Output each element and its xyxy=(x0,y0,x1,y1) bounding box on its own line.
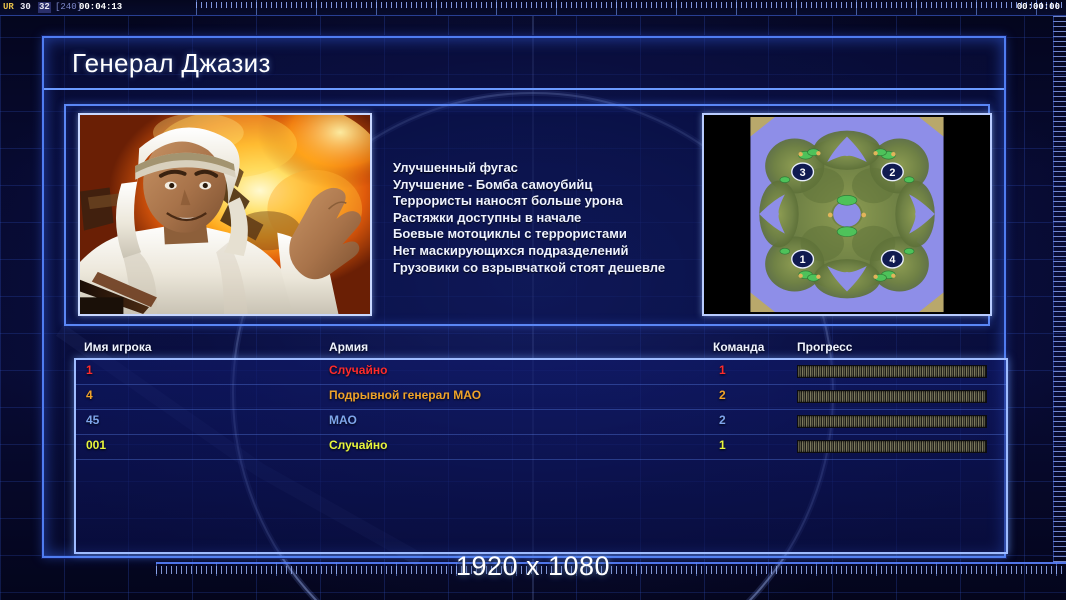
svg-text:3: 3 xyxy=(800,167,806,179)
ability-line: Террористы наносят больше урона xyxy=(393,193,693,210)
general-abilities-list: Улучшенный фугас Улучшение - Бомба самоу… xyxy=(393,160,693,276)
player-team: 2 xyxy=(719,388,726,402)
right-ruler-bar xyxy=(1053,16,1066,562)
general-portrait xyxy=(78,113,372,316)
ability-line: Улучшение - Бомба самоубийц xyxy=(393,177,693,194)
hud-value-b: 32 xyxy=(38,2,51,13)
table-row[interactable]: 45 МАО 2 xyxy=(76,410,1006,435)
player-table-header: Имя игрока Армия Команда Прогресс xyxy=(76,340,1006,358)
table-row[interactable]: 4 Подрывной генерал МАО 2 xyxy=(76,385,1006,410)
map-preview[interactable]: 3 2 1 4 xyxy=(702,113,992,316)
page-title: Генерал Джазиз xyxy=(72,48,271,79)
player-progress-bar xyxy=(797,365,987,378)
ability-line: Улучшенный фугас xyxy=(393,160,693,177)
player-name: 4 xyxy=(86,388,93,402)
resolution-overlay-text: 1920 x 1080 xyxy=(0,551,1066,582)
top-ruler-bar: UR 30 32 [240] 00:04:13 00:00:00 xyxy=(0,0,1066,16)
player-name: 45 xyxy=(86,413,99,427)
column-header-army: Армия xyxy=(329,340,368,354)
player-army: Подрывной генерал МАО xyxy=(329,388,481,402)
player-progress-bar xyxy=(797,390,987,403)
table-row[interactable]: 1 Случайно 1 xyxy=(76,360,1006,385)
hud-timer-right: 00:00:00 xyxy=(1017,2,1060,13)
svg-text:4: 4 xyxy=(889,254,895,266)
hud-value-c: [240] xyxy=(55,2,82,13)
svg-text:1: 1 xyxy=(800,254,806,266)
ability-line: Боевые мотоциклы с террористами xyxy=(393,226,693,243)
player-army: Случайно xyxy=(329,438,387,452)
player-team: 1 xyxy=(719,363,726,377)
table-row[interactable]: 001 Случайно 1 xyxy=(76,435,1006,460)
player-army: МАО xyxy=(329,413,357,427)
ability-line: Грузовики со взрывчаткой стоят дешевле xyxy=(393,260,693,277)
player-table: 1 Случайно 1 4 Подрывной генерал МАО 2 4… xyxy=(74,358,1008,554)
column-header-progress: Прогресс xyxy=(797,340,852,354)
player-army: Случайно xyxy=(329,363,387,377)
svg-text:2: 2 xyxy=(889,167,895,179)
window-title-bar: Генерал Джазиз xyxy=(44,38,1004,90)
player-team: 1 xyxy=(719,438,726,452)
top-ruler-minor-ticks xyxy=(196,0,1066,16)
column-header-team: Команда xyxy=(713,340,764,354)
hud-ur-label: UR xyxy=(3,2,14,13)
player-name: 1 xyxy=(86,363,93,377)
player-name: 001 xyxy=(86,438,106,452)
hud-timer-left: 00:04:13 xyxy=(79,2,122,13)
player-progress-bar xyxy=(797,440,987,453)
hud-value-a: 30 xyxy=(20,2,31,13)
ability-line: Нет маскирующихся подразделений xyxy=(393,243,693,260)
ability-line: Растяжки доступны в начале xyxy=(393,210,693,227)
player-progress-bar xyxy=(797,415,987,428)
player-team: 2 xyxy=(719,413,726,427)
column-header-player-name: Имя игрока xyxy=(84,340,152,354)
